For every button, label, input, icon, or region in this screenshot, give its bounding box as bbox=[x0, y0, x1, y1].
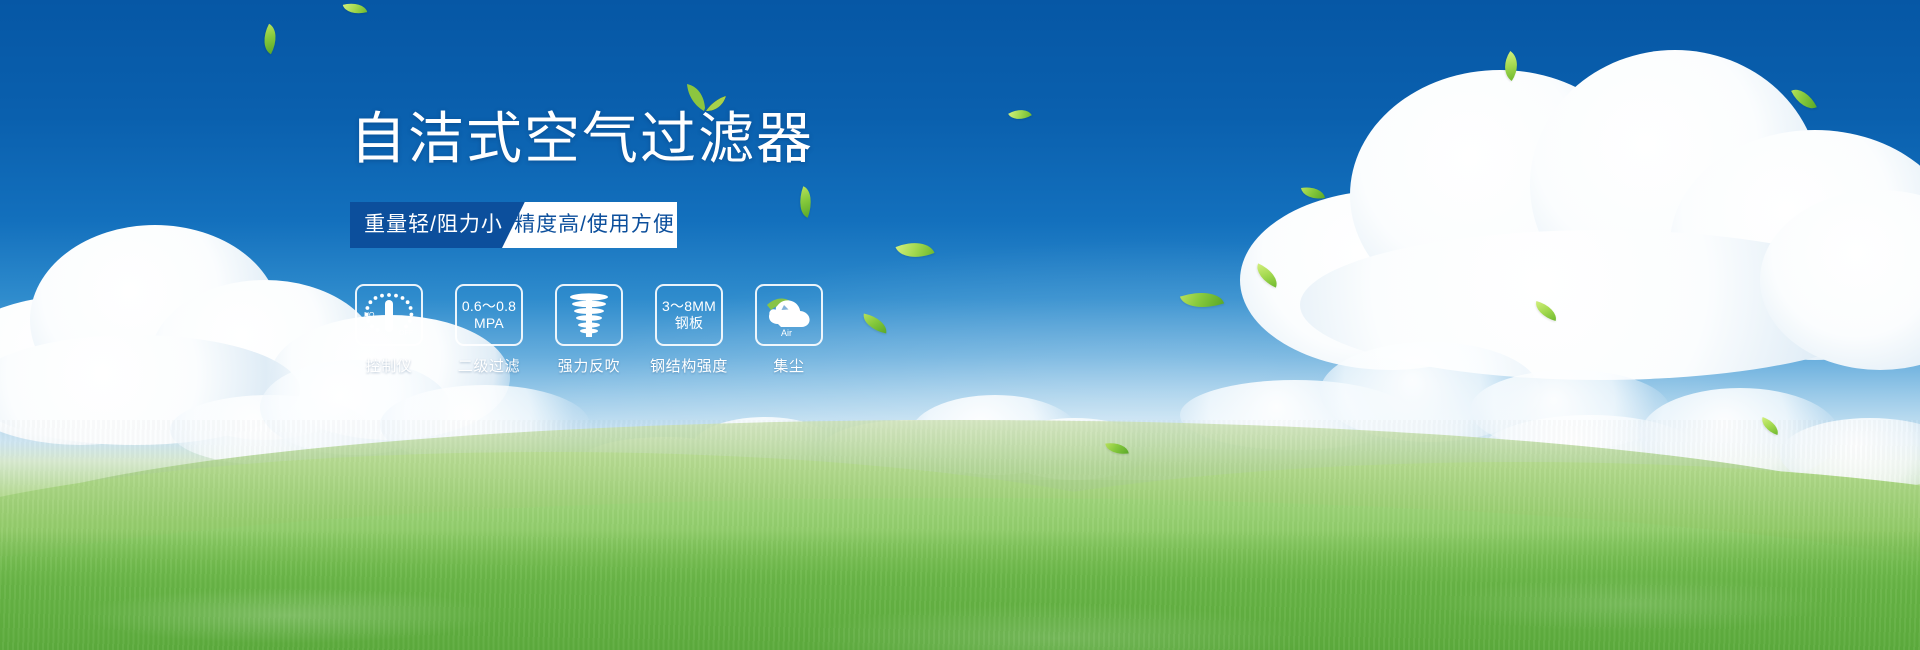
feature-item-secondary-filtration[interactable]: 0.6～0.8 MPA 二级过滤 bbox=[450, 284, 528, 376]
cloud-mid-5 bbox=[580, 415, 880, 485]
leaf-decoration bbox=[1105, 441, 1129, 457]
feature-icon-box: 0.6～0.8 MPA bbox=[455, 284, 523, 346]
dial-label-no: NO bbox=[364, 312, 375, 319]
grass-field bbox=[0, 530, 1920, 650]
title-leaf-icon bbox=[683, 82, 727, 112]
leaf-decoration bbox=[1301, 184, 1325, 202]
feature-icon-box: Air bbox=[755, 284, 823, 346]
cloud-mid-2 bbox=[820, 390, 1150, 480]
feature-icon-box: 3～8MM 钢板 bbox=[655, 284, 723, 346]
tab-precision-convenience[interactable]: 精度高/使用方便 bbox=[502, 202, 677, 248]
leaf-decoration bbox=[1497, 51, 1525, 81]
leaf-decoration bbox=[1791, 84, 1817, 114]
feature-item-back-blow[interactable]: 强力反吹 bbox=[550, 284, 628, 376]
cloud-mid-4 bbox=[1480, 380, 1920, 490]
product-banner: 自洁式空气过滤器 重量轻/阻力小 精度高/使用方便 bbox=[0, 0, 1920, 650]
leaf-decoration bbox=[343, 0, 367, 17]
feature-icon-box bbox=[555, 284, 623, 346]
filter-cartridge-icon bbox=[564, 291, 614, 339]
leaf-decoration bbox=[1759, 417, 1782, 435]
banner-content: 自洁式空气过滤器 重量轻/阻力小 精度高/使用方便 bbox=[350, 108, 1070, 376]
air-label: Air bbox=[781, 328, 792, 338]
hill-mid bbox=[0, 452, 1300, 592]
air-cloud-icon: Air bbox=[761, 291, 817, 339]
hill-mid-right bbox=[820, 462, 1920, 592]
tab-weight-resistance[interactable]: 重量轻/阻力小 bbox=[350, 202, 525, 248]
feature-list: NO OFF 控制仪 0.6～0.8 MPA 二级过滤 bbox=[350, 284, 1070, 376]
leaf-decoration bbox=[1180, 284, 1224, 315]
hill-far bbox=[0, 420, 1920, 540]
leaf-decoration bbox=[257, 24, 283, 54]
title-row: 自洁式空气过滤器 bbox=[350, 108, 1070, 180]
feature-tabs: 重量轻/阻力小 精度高/使用方便 bbox=[350, 202, 675, 248]
feature-item-steel-strength[interactable]: 3～8MM 钢板 钢结构强度 bbox=[650, 284, 728, 376]
steel-plate-text-icon: 3～8MM 钢板 bbox=[662, 298, 716, 332]
dial-gauge-icon: NO OFF bbox=[360, 290, 418, 340]
grass-texture bbox=[0, 420, 1920, 650]
hill-near bbox=[0, 498, 1920, 650]
feature-caption: 钢结构强度 bbox=[650, 355, 728, 376]
page-title: 自洁式空气过滤器 bbox=[350, 108, 1070, 170]
feature-item-dust-collection[interactable]: Air 集尘 bbox=[750, 284, 828, 376]
leaf-decoration bbox=[1533, 301, 1560, 321]
dial-label-off: OFF bbox=[399, 330, 413, 337]
cloud-right bbox=[1200, 40, 1920, 370]
feature-item-controller[interactable]: NO OFF 控制仪 bbox=[350, 284, 428, 376]
feature-icon-box: NO OFF bbox=[355, 284, 423, 346]
feature-caption: 集尘 bbox=[750, 355, 828, 376]
feature-caption: 二级过滤 bbox=[450, 355, 528, 376]
leaf-decoration bbox=[1252, 263, 1282, 287]
pressure-text-icon: 0.6～0.8 MPA bbox=[462, 298, 516, 332]
feature-caption: 控制仪 bbox=[350, 355, 428, 376]
cloud-mid-3 bbox=[1180, 330, 1660, 450]
feature-caption: 强力反吹 bbox=[550, 355, 628, 376]
